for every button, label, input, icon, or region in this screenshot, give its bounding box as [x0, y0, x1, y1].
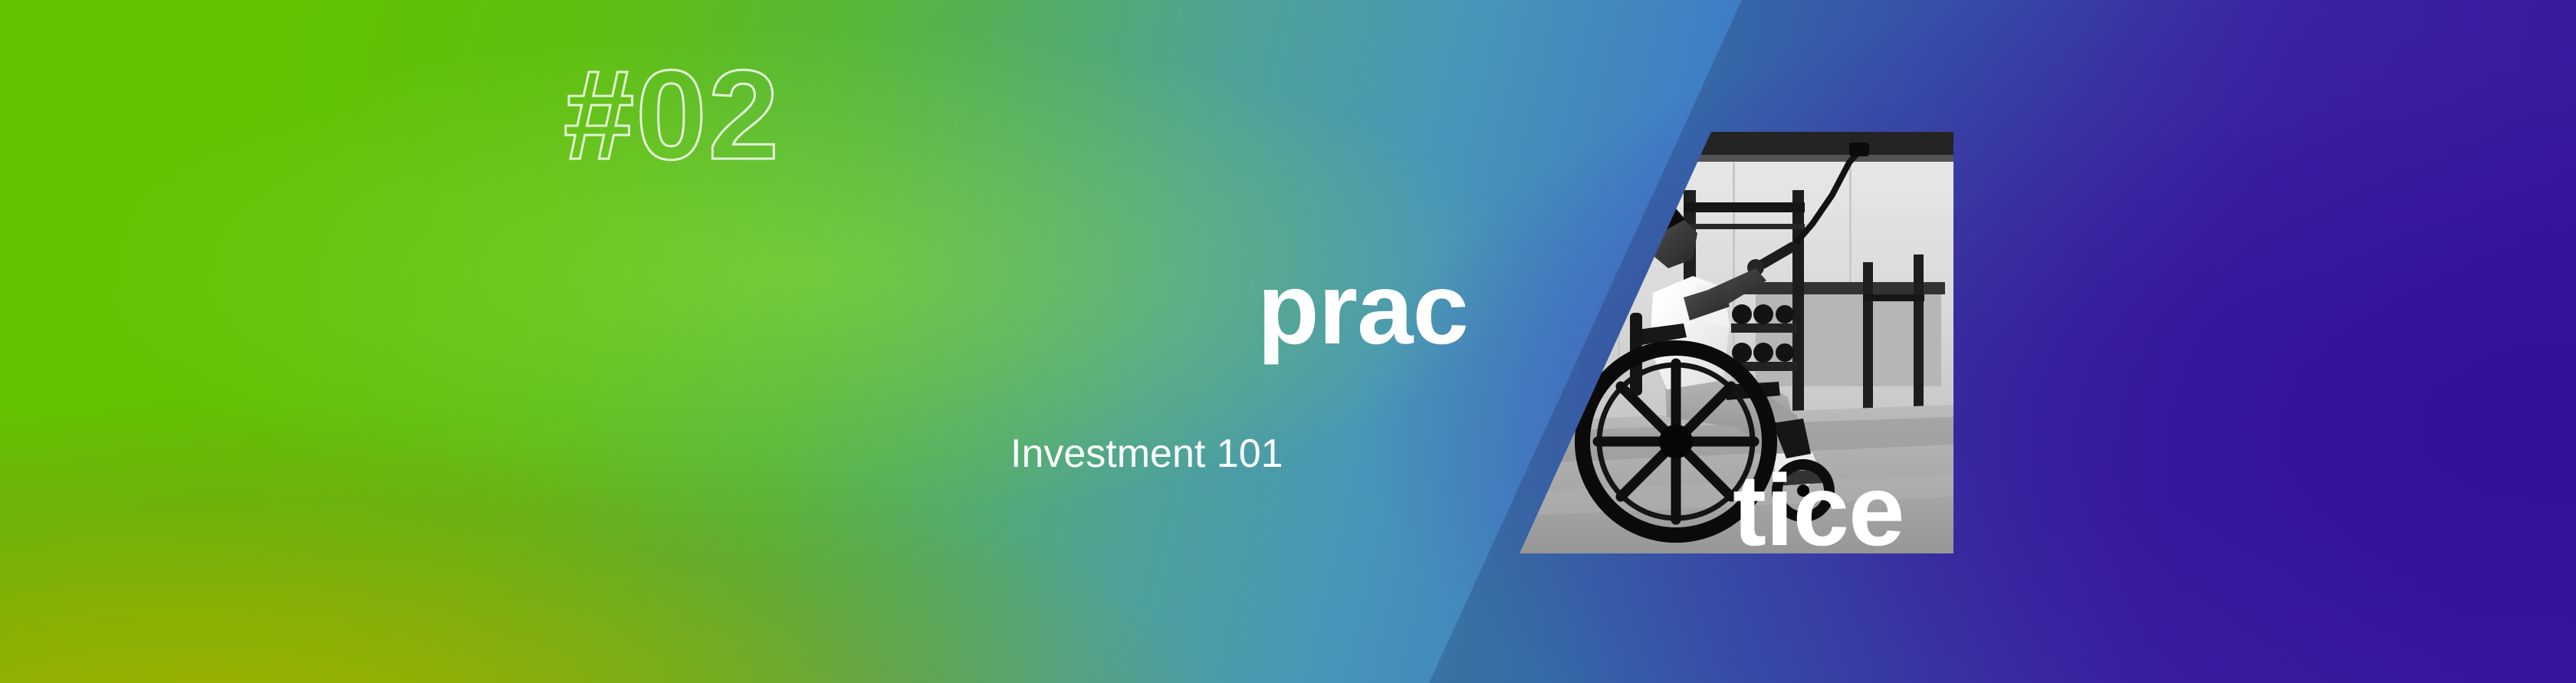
issue-number-label: #02	[563, 52, 780, 179]
headline-word-tice: tice	[1733, 460, 1904, 561]
headline-word-prac: prac	[1257, 258, 1468, 360]
banner-subtitle: Investment 101	[1010, 434, 1283, 474]
promo-banner: prac	[0, 0, 2576, 683]
